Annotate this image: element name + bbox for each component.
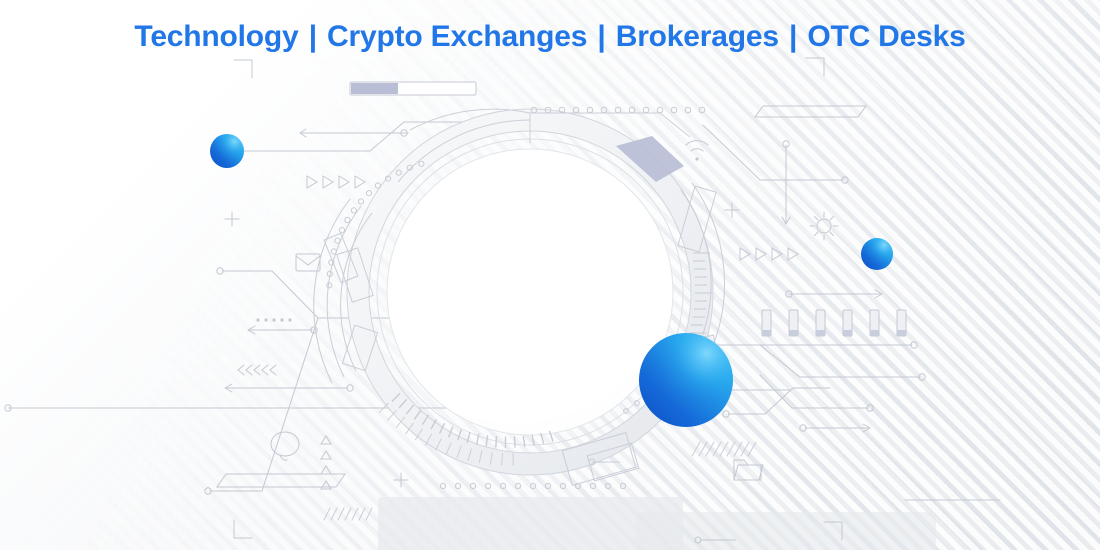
title-separator-2: |: [595, 20, 607, 53]
title-segment-otc-desks: OTC Desks: [807, 20, 965, 53]
orb-small-right: [861, 238, 893, 270]
orb-small-left: [210, 134, 244, 168]
page-title: Technology | Crypto Exchanges | Brokerag…: [134, 20, 965, 54]
title-separator-1: |: [307, 20, 319, 53]
title-segment-crypto-exchanges: Crypto Exchanges: [327, 20, 587, 53]
title-segment-technology: Technology: [134, 20, 298, 53]
orb-large: [639, 333, 733, 427]
title-separator-3: |: [787, 20, 799, 53]
title-segment-brokerages: Brokerages: [616, 20, 779, 53]
page-title-wrap: Technology | Crypto Exchanges | Brokerag…: [0, 20, 1100, 54]
banner-canvas: Technology | Crypto Exchanges | Brokerag…: [0, 0, 1100, 550]
orb-layer: [0, 0, 1100, 550]
